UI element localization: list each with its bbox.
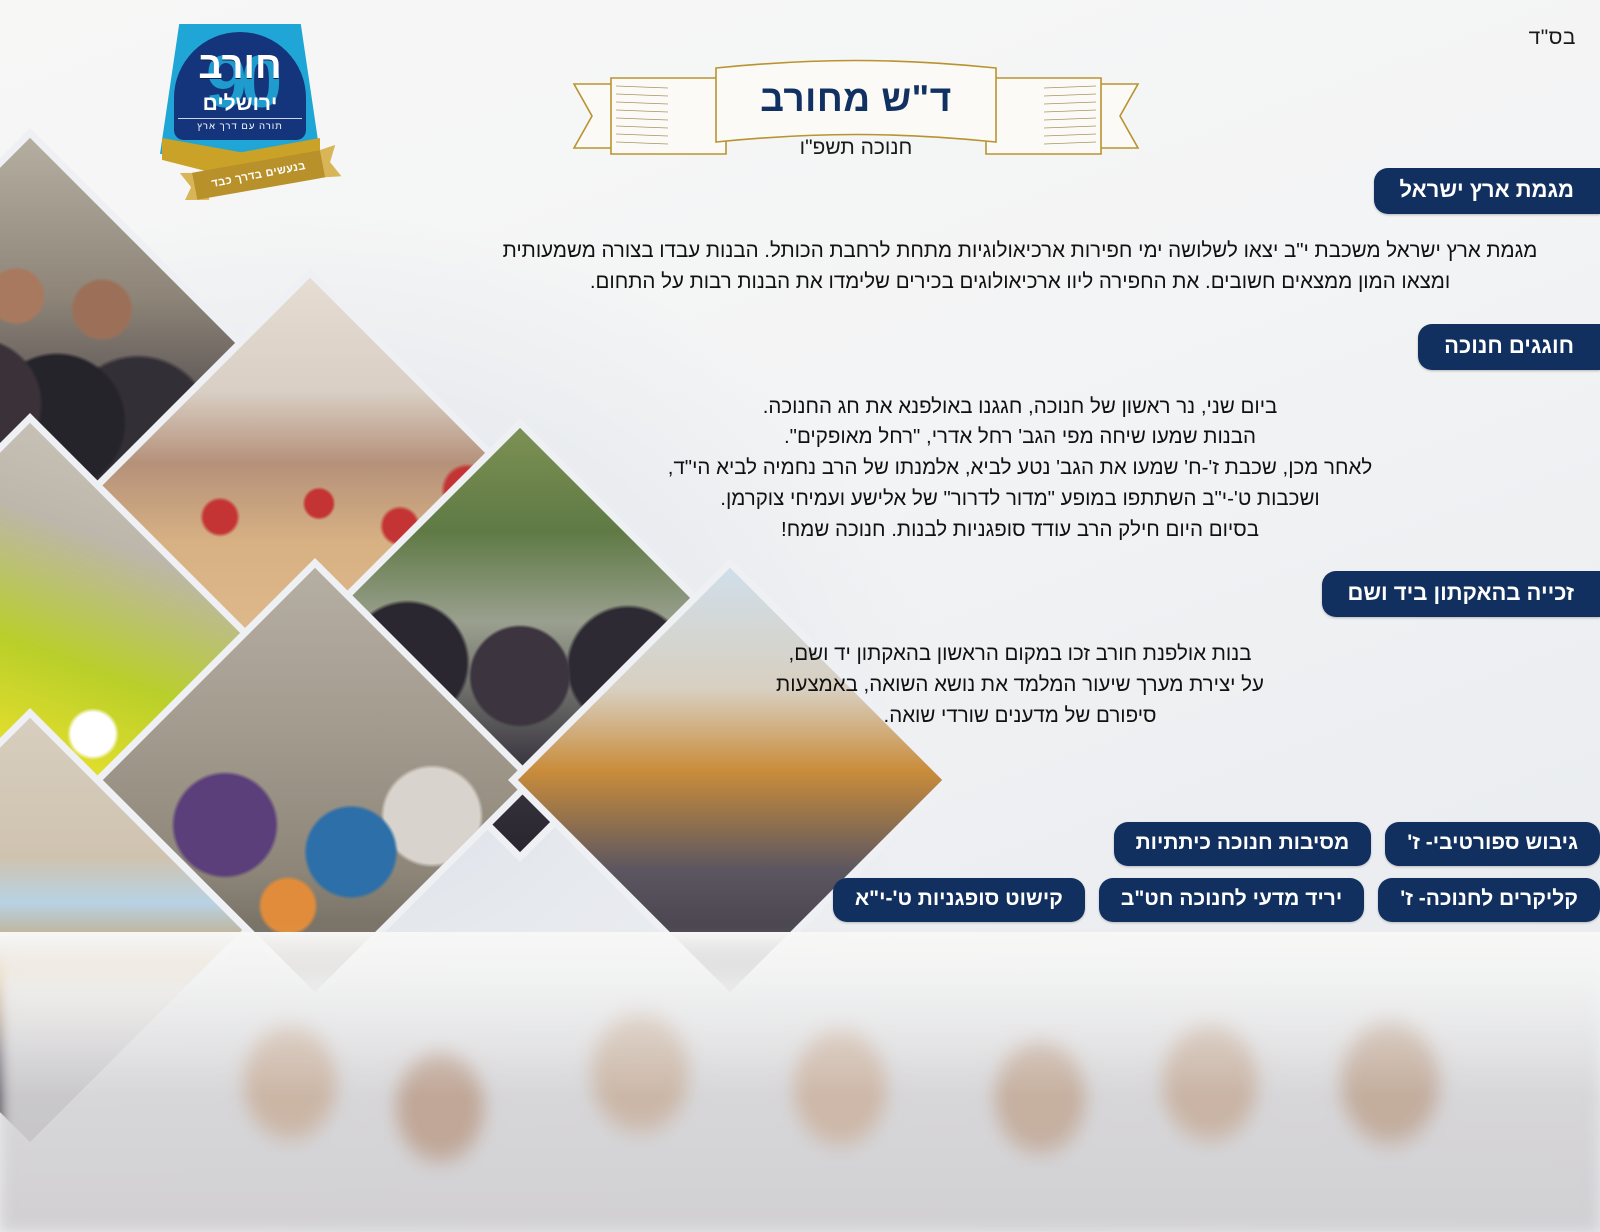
section-2-line-5: בסיום היום חילק הרב עודד סופגניות לבנות.… xyxy=(464,515,1576,546)
section-2-line-4: ושכבות ט'-י"ב השתתפו במופע "מדור לדרור" … xyxy=(464,484,1576,515)
section-heading-3: זכייה בהאקתון ביד ושם xyxy=(1322,571,1600,617)
section-body-1: מגמת ארץ ישראל משכבת י"ב יצאו לשלושה ימי… xyxy=(440,228,1600,298)
tag-yarid-mada-lahanukkah-hatab[interactable]: יריד מדעי לחנוכה חט"ב xyxy=(1099,878,1364,922)
section-body-2: ביום שני, נר ראשון של חנוכה, חגגנו באולפ… xyxy=(440,384,1600,546)
activity-tags: גיבוש ספורטיבי- ז' מסיבות חנוכה כיתתיות … xyxy=(440,822,1600,934)
section-3: זכייה בהאקתון ביד ושם בנות אולפנת חורב ז… xyxy=(440,571,1600,731)
section-3-line-3: סיפורם של מדענים שורדי שואה. xyxy=(464,701,1576,732)
tag-kishut-sufganiyot-tet-yud-alef[interactable]: קישוט סופגניות ט'-י"א xyxy=(833,878,1085,922)
tag-clickerim-lahanukkah-zayin[interactable]: קליקרים לחנוכה- ז' xyxy=(1378,878,1600,922)
activity-tags-row-2: קליקרים לחנוכה- ז' יריד מדעי לחנוכה חט"ב… xyxy=(440,878,1600,922)
logo-school-name: חורב xyxy=(174,48,306,84)
section-1-line-1: מגמת ארץ ישראל משכבת י"ב יצאו לשלושה ימי… xyxy=(464,236,1576,267)
bsd-label: בס"ד xyxy=(1529,26,1576,50)
section-2-line-3: לאחר מכן, שכבת ז'-ח' שמעו את הגב' נטע לב… xyxy=(464,453,1576,484)
section-1: מגמת ארץ ישראל מגמת ארץ ישראל משכבת י"ב … xyxy=(440,168,1600,298)
bottom-fade-overlay xyxy=(0,932,1600,1232)
activity-tags-row-1: גיבוש ספורטיבי- ז' מסיבות חנוכה כיתתיות xyxy=(440,822,1600,866)
section-heading-1: מגמת ארץ ישראל xyxy=(1374,168,1600,214)
banner-title: ד"ש מחורב xyxy=(556,78,1156,120)
section-2: חוגגים חנוכה ביום שני, נר ראשון של חנוכה… xyxy=(440,324,1600,546)
section-3-line-2: על יצירת מערך שיעור המלמד את נושא השואה,… xyxy=(464,670,1576,701)
logo-motto: תורה עם דרך ארץ xyxy=(178,118,302,132)
section-body-3: בנות אולפנת חורב זכו במקום הראשון בהאקתו… xyxy=(440,631,1600,731)
section-2-line-1: ביום שני, נר ראשון של חנוכה, חגגנו באולפ… xyxy=(464,392,1576,423)
logo-city: ירושלים xyxy=(174,92,306,116)
tag-givush-sportivi-zayin[interactable]: גיבוש ספורטיבי- ז' xyxy=(1385,822,1600,866)
section-1-line-2: ומצאו המון ממצאים חשובים. את החפירה ליוו… xyxy=(464,267,1576,298)
section-3-line-1: בנות אולפנת חורב זכו במקום הראשון בהאקתו… xyxy=(464,639,1576,670)
section-2-line-2: הבנות שמעו שיחה מפי הגב' רחל אדרי, "רחל … xyxy=(464,422,1576,453)
newsletter-page: בס"ד 90 חורב ירושלים תורה עם דרך ארץ בנע… xyxy=(0,0,1600,1232)
section-heading-2: חוגגים חנוכה xyxy=(1418,324,1600,370)
articles: מגמת ארץ ישראל מגמת ארץ ישראל משכבת י"ב … xyxy=(440,168,1600,740)
tag-mesibot-hanukkah-kitatiyot[interactable]: מסיבות חנוכה כיתתיות xyxy=(1114,822,1372,866)
